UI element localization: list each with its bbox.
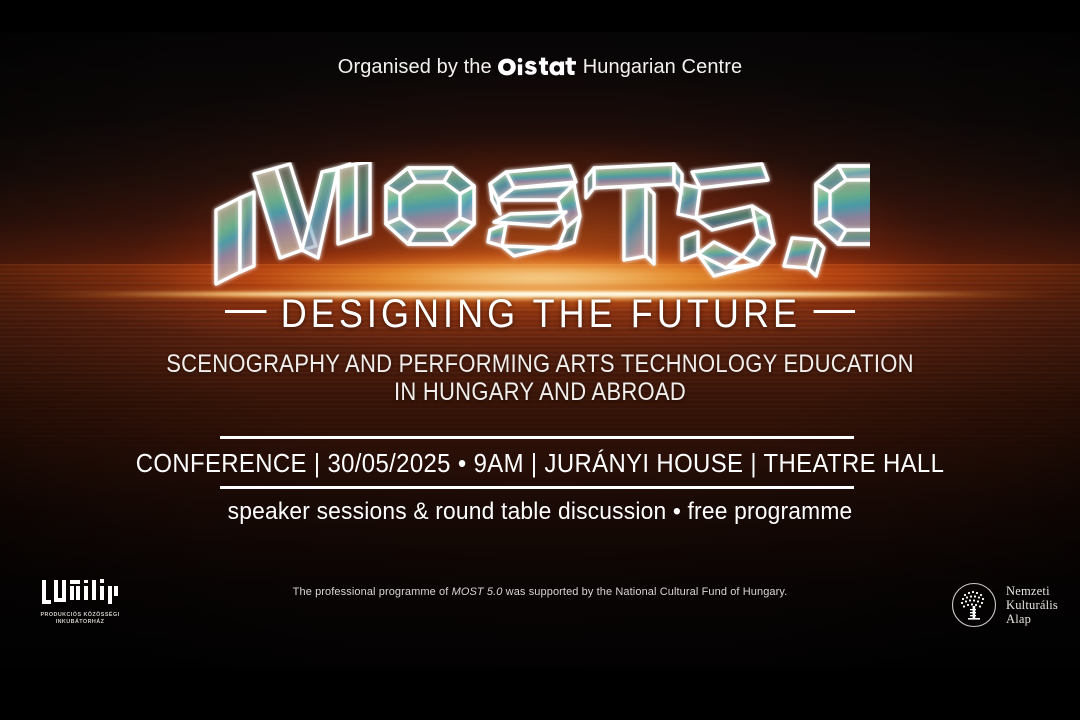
juranyi-logo: Jurányi bbox=[36, 578, 124, 626]
tagline-rule-right bbox=[814, 310, 855, 313]
nka-line-1: Nemzeti bbox=[1006, 584, 1058, 598]
juranyi-caption: PRODUKCIÓS KÖZÖSSÉGI INKUBÁTORHÁZ bbox=[36, 612, 124, 626]
nka-line-3: Alap bbox=[1006, 612, 1058, 626]
poster-canvas: Organised by the bbox=[0, 0, 1080, 720]
support-note-prefix: The professional programme of bbox=[293, 586, 452, 598]
tagline: DESIGNING THE FUTURE bbox=[54, 292, 1026, 337]
subtitle-line-2: IN HUNGARY AND ABROAD bbox=[65, 378, 1015, 406]
tagline-text: DESIGNING THE FUTURE bbox=[281, 292, 801, 336]
organiser-line: Organised by the bbox=[0, 56, 1080, 79]
tagline-rule-left bbox=[225, 310, 266, 313]
subtitle-block: SCENOGRAPHY AND PERFORMING ARTS TECHNOLO… bbox=[65, 350, 1015, 406]
conference-details: CONFERENCE | 30/05/2025 • 9AM | JURÁNYI … bbox=[43, 448, 1037, 479]
organiser-suffix: Hungarian Centre bbox=[583, 56, 742, 78]
subtitle-line-1: SCENOGRAPHY AND PERFORMING ARTS TECHNOLO… bbox=[65, 350, 1015, 378]
divider-rule-bottom bbox=[220, 486, 854, 489]
nka-wordmark: Nemzeti Kulturális Alap bbox=[1006, 584, 1058, 626]
support-note-title: MOST 5.0 bbox=[452, 586, 503, 598]
divider-rule-top bbox=[220, 436, 854, 439]
nka-tree-icon bbox=[951, 582, 997, 628]
juranyi-caption-line-2: INKUBÁTORHÁZ bbox=[36, 619, 124, 626]
juranyi-caption-line-1: PRODUKCIÓS KÖZÖSSÉGI bbox=[36, 612, 124, 619]
organiser-prefix: Organised by the bbox=[338, 56, 492, 78]
nka-line-2: Kulturális bbox=[1006, 598, 1058, 612]
nka-logo: Nemzeti Kulturális Alap bbox=[951, 582, 1058, 628]
programme-details: speaker sessions & round table discussio… bbox=[27, 498, 1053, 526]
support-note: The professional programme of MOST 5.0 w… bbox=[0, 586, 1080, 598]
support-note-suffix: was supported by the National Cultural F… bbox=[503, 586, 788, 598]
poster-title: MOST5.0 bbox=[0, 162, 1080, 290]
poster-content: Organised by the bbox=[0, 0, 1080, 636]
oistat-logo-icon bbox=[498, 56, 576, 78]
letterbox-bottom bbox=[0, 668, 1080, 720]
